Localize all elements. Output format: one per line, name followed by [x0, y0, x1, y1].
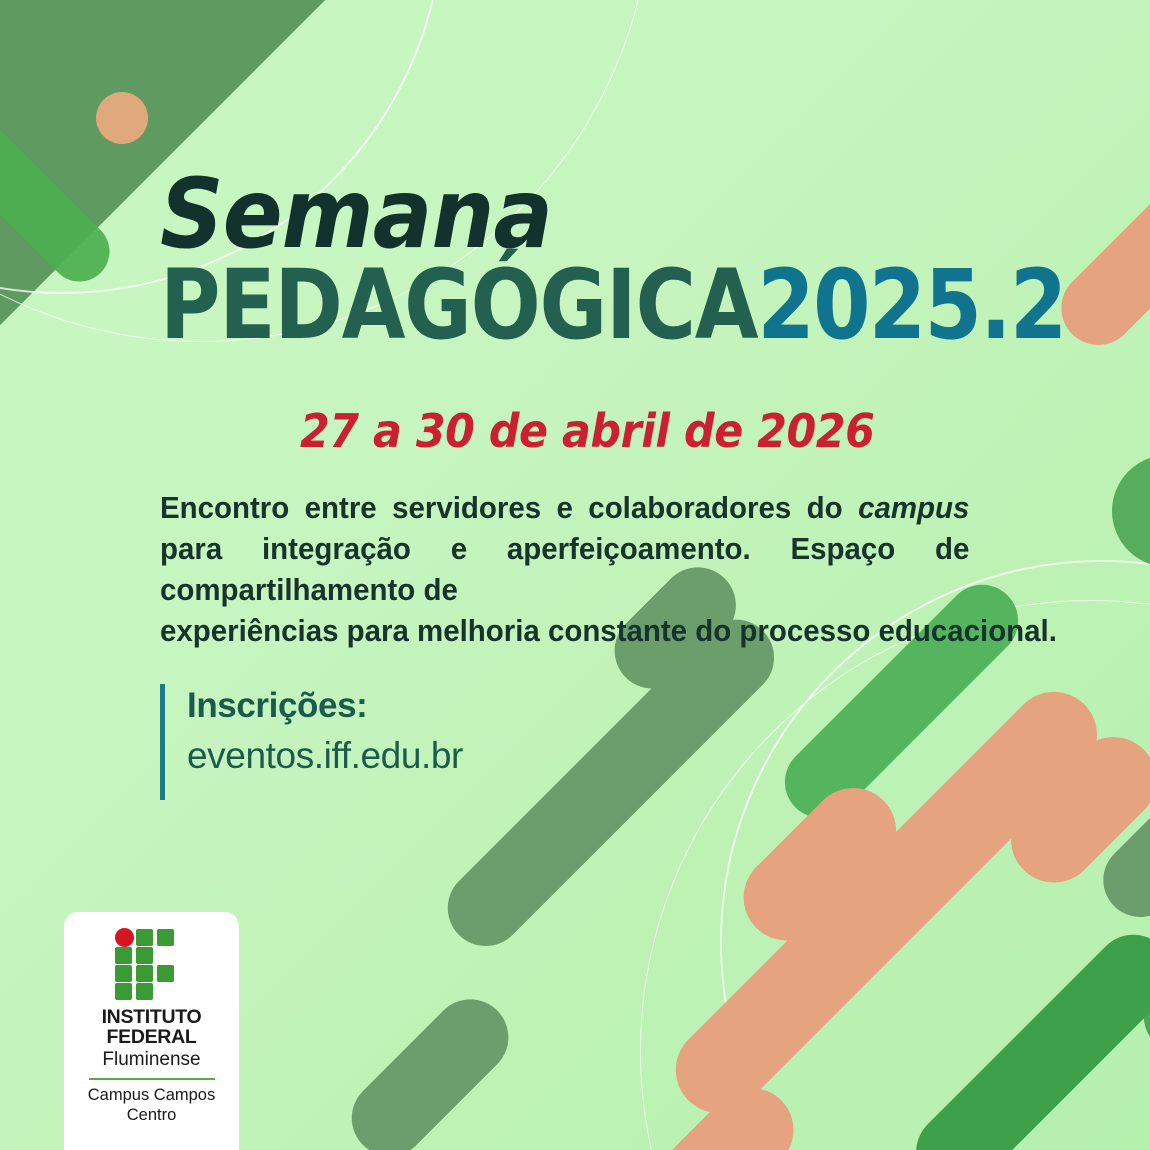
logo-red-dot — [115, 928, 134, 947]
logo-cell — [115, 965, 132, 982]
logo-text-instituto: INSTITUTO — [102, 1008, 202, 1028]
logo-cell — [157, 929, 174, 946]
logo-cell — [115, 947, 132, 964]
logo-cell — [136, 947, 153, 964]
logo-text-campus-line2: Centro — [127, 1106, 177, 1126]
description-part-three: experiências para melhoria constante do … — [160, 611, 969, 652]
logo-cell — [157, 965, 174, 982]
iff-logo-icon — [113, 928, 191, 1000]
registration-url[interactable]: eventos.iff.edu.br — [187, 732, 463, 780]
title-pedagogica: PEDAGÓGICA — [160, 249, 757, 361]
logo-cell — [115, 983, 132, 1000]
title-line-two: PEDAGÓGICA2025.2 — [160, 260, 960, 351]
logo-text-federal: FEDERAL — [107, 1028, 197, 1048]
poster-canvas: Semana PEDAGÓGICA2025.2 27 a 30 de abril… — [0, 0, 1150, 1150]
logo-cell — [136, 965, 153, 982]
description-part-one: Encontro entre servidores e colaboradore… — [160, 490, 858, 525]
logo-cell — [136, 929, 153, 946]
logo-text-campus-line1: Campus Campos — [88, 1086, 215, 1106]
registration-label: Inscrições: — [187, 684, 463, 728]
event-date: 27 a 30 de abril de 2026 — [300, 404, 874, 458]
title-year: 2025.2 — [757, 249, 1065, 361]
registration-block: Inscrições: eventos.iff.edu.br — [160, 684, 463, 800]
title-block: Semana PEDAGÓGICA2025.2 — [160, 168, 1090, 351]
description-part-two: para integração e aperfeiçoamento. Espaç… — [160, 531, 969, 607]
logo-text-fluminense: Fluminense — [102, 1048, 200, 1072]
title-semana: Semana — [160, 168, 1016, 260]
institution-logo-card: INSTITUTO FEDERAL Fluminense Campus Camp… — [64, 912, 239, 1150]
description-italic-campus: campus — [858, 490, 969, 525]
logo-cell — [136, 983, 153, 1000]
event-description: Encontro entre servidores e colaboradore… — [160, 488, 969, 652]
logo-divider — [89, 1078, 215, 1080]
poster-content: Semana PEDAGÓGICA2025.2 27 a 30 de abril… — [0, 0, 1150, 1150]
